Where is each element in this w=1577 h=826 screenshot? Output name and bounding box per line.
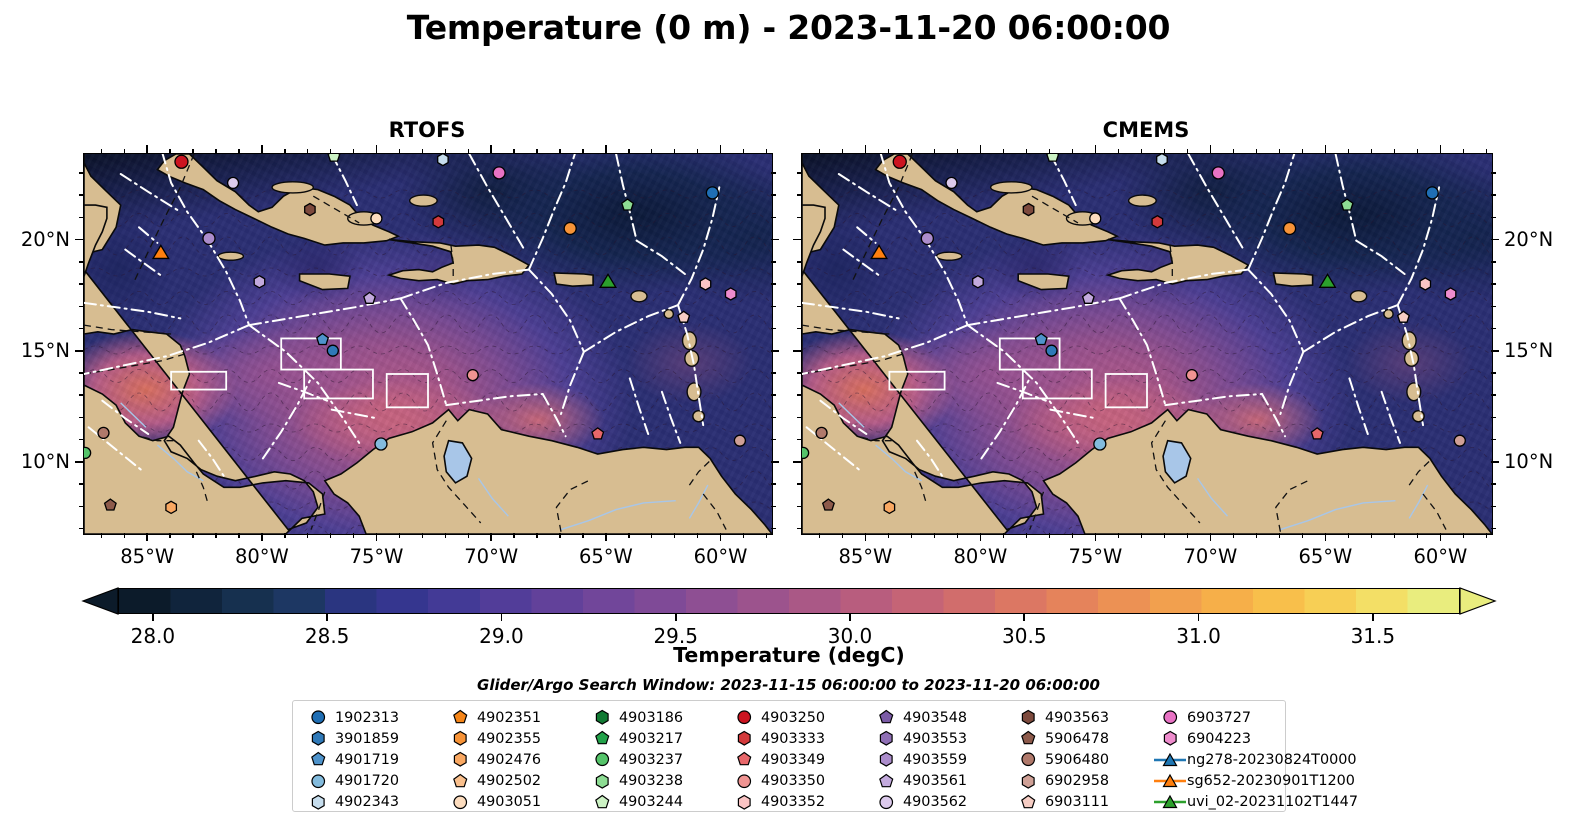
- legend-item-label: 4901720: [335, 773, 399, 789]
- legend-marker-circle-icon: [727, 709, 761, 726]
- legend-item-label: 4903352: [761, 794, 825, 810]
- x-tick: [934, 149, 936, 154]
- x-tick: [1095, 533, 1097, 541]
- y-tick: [1491, 194, 1496, 196]
- x-tick: [1486, 533, 1488, 538]
- marker-4903244[interactable]: [328, 153, 340, 161]
- legend-marker-circle-icon: [1011, 751, 1045, 768]
- legend-item-label: 4903250: [761, 710, 825, 726]
- x-tick: [911, 149, 913, 154]
- y-tick: [79, 217, 84, 219]
- y-tick-label: 15°N: [0, 339, 70, 362]
- y-tick: [1491, 172, 1496, 174]
- x-tick: [559, 149, 561, 154]
- marker-4903563[interactable]: [1023, 204, 1034, 216]
- x-tick-label: 75°W: [343, 545, 411, 568]
- marker-4903352[interactable]: [1420, 278, 1430, 290]
- y-tick: [771, 483, 776, 485]
- panel-title-rtofs: RTOFS: [83, 118, 771, 142]
- x-tick: [1325, 533, 1327, 541]
- legend-marker-hexagon-icon: [727, 730, 761, 747]
- colorbar-extend-max: [1460, 588, 1495, 614]
- legend-item-label: 6903727: [1187, 710, 1251, 726]
- legend-marker-circle-icon: [301, 709, 335, 726]
- x-tick-label: 85°W: [831, 545, 899, 568]
- legend-marker-hexagon-icon: [585, 773, 619, 790]
- x-tick: [651, 533, 653, 538]
- legend-item[interactable]: 1902313: [301, 707, 443, 728]
- y-tick: [771, 372, 776, 374]
- legend-item[interactable]: 6903727: [1153, 707, 1337, 728]
- x-tick: [330, 149, 332, 154]
- colorbar-tick: [1372, 614, 1374, 621]
- marker-6904223[interactable]: [726, 288, 737, 300]
- legend-item[interactable]: 4902502: [443, 770, 585, 791]
- y-tick: [75, 461, 83, 463]
- y-tick: [771, 328, 776, 330]
- colorbar-tick: [849, 614, 851, 621]
- legend-marker-pentagon-icon: [585, 730, 619, 747]
- y-tick: [771, 194, 776, 196]
- y-tick: [771, 417, 776, 419]
- x-tick: [1118, 533, 1120, 538]
- x-tick: [766, 149, 768, 154]
- x-tick: [1348, 149, 1350, 154]
- map-overlay: [84, 154, 772, 534]
- y-tick: [797, 283, 802, 285]
- y-tick: [1491, 217, 1496, 219]
- y-tick: [793, 239, 801, 241]
- x-tick: [399, 533, 401, 538]
- x-tick: [1003, 149, 1005, 154]
- legend-item-label: 4903563: [1045, 710, 1109, 726]
- x-tick: [1233, 533, 1235, 538]
- marker-4903561[interactable]: [254, 276, 265, 288]
- legend-item[interactable]: 4902343: [301, 791, 443, 812]
- x-tick: [1394, 149, 1396, 154]
- map-overlay: [802, 154, 1492, 534]
- legend-item[interactable]: 4903051: [443, 791, 585, 812]
- y-tick: [1491, 528, 1496, 530]
- legend-item-label: 4903350: [761, 773, 825, 789]
- x-tick: [720, 145, 722, 153]
- y-tick-label: 15°N: [1504, 339, 1577, 362]
- legend-marker-pentagon-icon: [301, 751, 335, 768]
- y-tick: [1491, 439, 1496, 441]
- legend-item-label: 4902351: [477, 710, 541, 726]
- legend-item[interactable]: 4903553: [869, 728, 1011, 749]
- x-tick: [422, 149, 424, 154]
- marker-4902343[interactable]: [1157, 154, 1168, 166]
- x-tick: [605, 533, 607, 541]
- x-tick: [215, 533, 217, 538]
- y-tick: [1491, 328, 1496, 330]
- y-tick: [1491, 306, 1496, 308]
- marker-1902313[interactable]: [706, 187, 718, 199]
- legend-marker-pentagon-icon: [727, 751, 761, 768]
- x-tick: [1187, 149, 1189, 154]
- x-tick: [536, 149, 538, 154]
- marker-4902355[interactable]: [564, 222, 576, 234]
- marker-4902476[interactable]: [166, 501, 177, 513]
- x-tick: [980, 145, 982, 153]
- y-tick: [797, 194, 802, 196]
- marker-4903352[interactable]: [700, 278, 710, 290]
- legend-marker-hexagon-icon: [1153, 730, 1187, 747]
- marker-sg652-20230901T1200[interactable]: [871, 245, 887, 258]
- legend-marker-pentagon-icon: [1011, 730, 1045, 747]
- x-tick: [192, 533, 194, 538]
- marker-uvi_02-20231102T1447[interactable]: [600, 274, 616, 287]
- x-tick: [582, 533, 584, 538]
- legend-item[interactable]: 4903352: [727, 791, 869, 812]
- marker-5906480[interactable]: [98, 427, 109, 438]
- x-tick: [559, 533, 561, 538]
- marker-4903186[interactable]: [83, 447, 91, 458]
- marker-4901720[interactable]: [1094, 438, 1106, 450]
- x-tick-label: 60°W: [1406, 545, 1474, 568]
- marker-4903333[interactable]: [433, 216, 444, 228]
- legend-item[interactable]: 4903561: [869, 770, 1011, 791]
- x-tick: [934, 533, 936, 538]
- legend-marker-hexagon-icon: [1011, 773, 1045, 790]
- marker-4903051[interactable]: [371, 213, 382, 224]
- legend-marker-hexagon-icon: [585, 709, 619, 726]
- x-tick: [1141, 533, 1143, 538]
- marker-4903553[interactable]: [1083, 292, 1095, 303]
- legend-item[interactable]: 6904223: [1153, 728, 1337, 749]
- legend-item-label: 4902355: [477, 731, 541, 747]
- y-tick: [79, 506, 84, 508]
- y-tick: [1491, 394, 1496, 396]
- marker-4903559[interactable]: [921, 232, 933, 244]
- y-tick: [793, 461, 801, 463]
- x-tick: [101, 533, 103, 538]
- y-tick: [1491, 372, 1496, 374]
- legend-marker-circle-icon: [301, 773, 335, 790]
- legend-marker-hexagon-icon: [869, 751, 903, 768]
- legend-item[interactable]: 3901859: [301, 728, 443, 749]
- x-tick: [1371, 149, 1373, 154]
- legend-item-label: 4903553: [903, 731, 967, 747]
- legend-item-label: 4903051: [477, 794, 541, 810]
- marker-4903217[interactable]: [1341, 199, 1353, 210]
- x-tick: [1072, 533, 1074, 538]
- y-tick: [797, 439, 802, 441]
- x-tick: [445, 533, 447, 538]
- legend-item[interactable]: 4902355: [443, 728, 585, 749]
- legend-item-label: 4902343: [335, 794, 399, 810]
- legend-item-label: 4903349: [761, 752, 825, 768]
- x-tick-label: 70°W: [457, 545, 525, 568]
- x-tick: [1141, 149, 1143, 154]
- marker-4902343[interactable]: [438, 154, 448, 166]
- legend-marker-circle-icon: [585, 751, 619, 768]
- x-tick-label: 60°W: [687, 545, 755, 568]
- x-tick: [1463, 149, 1465, 154]
- marker-4903349[interactable]: [592, 428, 604, 439]
- legend-item[interactable]: 4901719: [301, 749, 443, 770]
- legend-marker-triangle-line-icon: [1153, 794, 1187, 810]
- marker-uvi_02-20231102T1447[interactable]: [1320, 274, 1336, 287]
- map-panel-cmems[interactable]: [801, 153, 1493, 535]
- y-tick: [771, 306, 776, 308]
- legend-marker-triangle-line-icon: [1153, 752, 1187, 768]
- y-tick: [771, 172, 776, 174]
- legend-marker-pentagon-icon: [869, 709, 903, 726]
- x-tick: [1049, 533, 1051, 538]
- legend-item[interactable]: 4903350: [727, 770, 869, 791]
- legend-item-label: ng278-20230824T0000: [1187, 752, 1357, 768]
- y-tick-label: 10°N: [1504, 450, 1577, 473]
- colorbar-tick: [326, 614, 328, 621]
- x-tick: [490, 533, 492, 541]
- marker-6903727[interactable]: [1212, 167, 1224, 179]
- legend-item-label: 4903559: [903, 752, 967, 768]
- legend-item[interactable]: 6902958: [1011, 770, 1153, 791]
- marker-4903250[interactable]: [175, 155, 188, 168]
- x-tick: [1164, 533, 1166, 538]
- x-tick: [215, 149, 217, 154]
- x-tick: [628, 149, 630, 154]
- colorbar-bin-separators: [119, 589, 1459, 613]
- legend-marker-hexagon-icon: [727, 794, 761, 811]
- marker-4903217[interactable]: [622, 199, 634, 210]
- legend-item[interactable]: 5906480: [1011, 749, 1153, 770]
- y-tick: [79, 417, 84, 419]
- marker-4903553[interactable]: [364, 292, 376, 303]
- legend-item[interactable]: 6903111: [1011, 791, 1153, 812]
- marker-4903051[interactable]: [1090, 213, 1101, 224]
- marker-6902958[interactable]: [734, 435, 745, 446]
- legend-item-label: 4903548: [903, 710, 967, 726]
- marker-4901720[interactable]: [375, 438, 387, 450]
- marker-4903559[interactable]: [203, 232, 215, 244]
- x-tick: [422, 533, 424, 538]
- x-tick: [842, 149, 844, 154]
- legend-marker-hexagon-icon: [301, 730, 335, 747]
- y-tick: [771, 506, 776, 508]
- y-tick: [771, 461, 779, 463]
- x-tick-label: 80°W: [946, 545, 1014, 568]
- x-tick: [865, 145, 867, 153]
- legend-item-label: 3901859: [335, 731, 399, 747]
- y-tick: [771, 239, 779, 241]
- y-tick: [1491, 350, 1499, 352]
- legend-item[interactable]: ng278-20230824T0000: [1153, 749, 1337, 770]
- legend-item-label: 5906478: [1045, 731, 1109, 747]
- legend-item[interactable]: 4903563: [1011, 707, 1153, 728]
- legend-item-label: 4903217: [619, 731, 683, 747]
- marker-4901719[interactable]: [1035, 334, 1047, 345]
- x-tick: [1164, 149, 1166, 154]
- legend-item[interactable]: 4903238: [585, 770, 727, 791]
- x-tick: [146, 145, 148, 153]
- marker-4903349[interactable]: [1311, 428, 1323, 439]
- x-tick-label: 85°W: [113, 545, 181, 568]
- x-tick-label: 70°W: [1176, 545, 1244, 568]
- legend-item-label: 4903244: [619, 794, 683, 810]
- x-tick: [743, 149, 745, 154]
- x-tick: [468, 533, 470, 538]
- x-tick: [490, 145, 492, 153]
- x-tick: [888, 149, 890, 154]
- marker-4903562[interactable]: [946, 177, 957, 188]
- x-tick: [605, 145, 607, 153]
- x-tick: [957, 533, 959, 538]
- x-tick-label: 65°W: [572, 545, 640, 568]
- colorbar-tick: [152, 614, 154, 621]
- legend-marker-hexagon-icon: [301, 794, 335, 811]
- x-tick: [1256, 533, 1258, 538]
- y-tick-label: 20°N: [0, 228, 70, 251]
- legend-item[interactable]: sg652-20230901T1200: [1153, 770, 1337, 791]
- x-tick: [888, 533, 890, 538]
- x-tick: [1440, 533, 1442, 541]
- colorbar-tick: [1198, 614, 1200, 621]
- legend-item[interactable]: 4903186: [585, 707, 727, 728]
- marker-4903562[interactable]: [228, 177, 239, 188]
- x-tick: [628, 533, 630, 538]
- legend-item[interactable]: 4903562: [869, 791, 1011, 812]
- x-tick: [819, 533, 821, 538]
- marker-4901719[interactable]: [317, 334, 329, 345]
- marker-4903244[interactable]: [1047, 153, 1059, 161]
- marker-4903350[interactable]: [1186, 370, 1197, 381]
- colorbar-tick: [501, 614, 503, 621]
- colorbar: 28.028.529.029.530.030.531.031.5 Tempera…: [118, 588, 1460, 666]
- y-tick: [771, 528, 776, 530]
- x-tick: [957, 149, 959, 154]
- legend-item[interactable]: 4902351: [443, 707, 585, 728]
- marker-3901859[interactable]: [1046, 345, 1057, 356]
- legend-item-label: sg652-20230901T1200: [1187, 773, 1355, 789]
- x-tick: [1003, 533, 1005, 538]
- legend-item-label: 6903111: [1045, 794, 1109, 810]
- y-tick: [771, 217, 776, 219]
- survey-boxes: [171, 338, 428, 407]
- legend-item[interactable]: 4902476: [443, 749, 585, 770]
- marker-sg652-20230901T1200[interactable]: [153, 245, 169, 258]
- marker-5906480[interactable]: [816, 427, 827, 438]
- legend-marker-hexagon-icon: [1011, 709, 1045, 726]
- y-tick: [797, 483, 802, 485]
- legend-item-label: 4902476: [477, 752, 541, 768]
- x-tick: [330, 533, 332, 538]
- x-tick: [353, 149, 355, 154]
- x-tick: [1348, 533, 1350, 538]
- y-tick: [797, 172, 802, 174]
- y-tick: [1491, 239, 1499, 241]
- y-tick: [79, 394, 84, 396]
- marker-4903563[interactable]: [305, 204, 315, 216]
- legend-item-label: 5906480: [1045, 752, 1109, 768]
- x-tick: [1279, 533, 1281, 538]
- y-tick: [1491, 461, 1499, 463]
- y-tick: [771, 261, 776, 263]
- x-tick: [1325, 145, 1327, 153]
- x-tick: [1394, 533, 1396, 538]
- y-tick: [1491, 417, 1496, 419]
- x-tick: [1417, 533, 1419, 538]
- survey-boxes: [889, 338, 1147, 407]
- legend-item[interactable]: 4903349: [727, 749, 869, 770]
- legend-marker-circle-icon: [869, 794, 903, 811]
- legend-item-label: 4903562: [903, 794, 967, 810]
- x-tick: [284, 149, 286, 154]
- marker-4902476[interactable]: [884, 501, 894, 513]
- y-tick: [79, 172, 84, 174]
- x-tick: [1256, 149, 1258, 154]
- panel-title-cmems: CMEMS: [801, 118, 1491, 142]
- legend-item[interactable]: 4903559: [869, 749, 1011, 770]
- colorbar-extend-min: [83, 588, 118, 614]
- legend-item[interactable]: 4903244: [585, 791, 727, 812]
- x-tick: [697, 533, 699, 538]
- x-tick: [1417, 149, 1419, 154]
- marker-6902958[interactable]: [1454, 435, 1465, 446]
- legend-item[interactable]: 4903250: [727, 707, 869, 728]
- marker-4903350[interactable]: [467, 370, 478, 381]
- colorbar-gradient: [118, 588, 1460, 614]
- x-tick: [353, 533, 355, 538]
- legend-item[interactable]: 4901720: [301, 770, 443, 791]
- y-tick: [797, 506, 802, 508]
- map-panel-rtofs[interactable]: [83, 153, 773, 535]
- legend-item[interactable]: 4903548: [869, 707, 1011, 728]
- legend-marker-triangle-line-icon: [1153, 773, 1187, 789]
- x-tick: [1279, 149, 1281, 154]
- x-tick: [146, 533, 148, 541]
- x-tick: [1302, 149, 1304, 154]
- marker-1902313[interactable]: [1426, 187, 1438, 199]
- x-tick: [743, 533, 745, 538]
- marker-6904223[interactable]: [1445, 288, 1455, 300]
- legend-marker-pentagon-icon: [585, 794, 619, 811]
- marker-4903561[interactable]: [973, 276, 984, 288]
- marker-3901859[interactable]: [327, 345, 338, 356]
- x-tick: [697, 149, 699, 154]
- legend-item[interactable]: uvi_02-20231102T1447: [1153, 791, 1337, 812]
- x-tick: [865, 533, 867, 541]
- marker-4902355[interactable]: [1284, 222, 1296, 234]
- y-tick: [79, 372, 84, 374]
- y-tick: [79, 261, 84, 263]
- x-tick: [101, 149, 103, 154]
- x-tick: [766, 533, 768, 538]
- legend-item[interactable]: 5906478: [1011, 728, 1153, 749]
- legend-item[interactable]: 4903237: [585, 749, 727, 770]
- y-tick: [797, 328, 802, 330]
- marker-4903186[interactable]: [801, 447, 809, 458]
- x-tick: [911, 533, 913, 538]
- x-tick: [1095, 145, 1097, 153]
- legend-item-label: 4903237: [619, 752, 683, 768]
- x-tick: [1371, 533, 1373, 538]
- y-tick: [771, 350, 779, 352]
- marker-6903727[interactable]: [493, 167, 505, 179]
- marker-4903333[interactable]: [1152, 216, 1163, 228]
- y-tick: [797, 372, 802, 374]
- x-tick: [819, 149, 821, 154]
- marker-4903250[interactable]: [893, 155, 906, 168]
- y-tick: [771, 394, 776, 396]
- y-tick: [793, 350, 801, 352]
- y-tick: [79, 439, 84, 441]
- legend-item[interactable]: 4903333: [727, 728, 869, 749]
- legend-item[interactable]: 4903217: [585, 728, 727, 749]
- legend-item-label: 1902313: [335, 710, 399, 726]
